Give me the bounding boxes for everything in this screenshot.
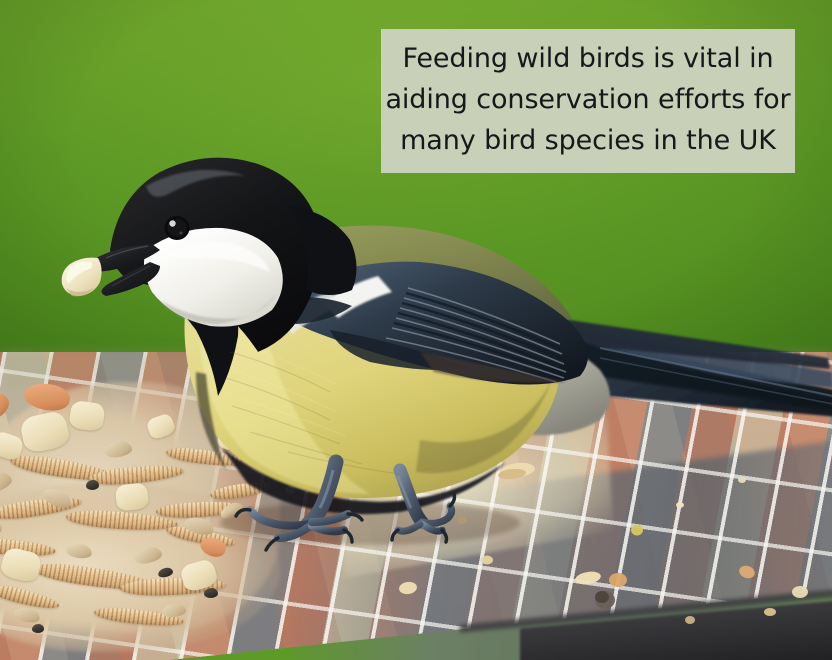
caption-line-1: Feeding wild birds is vital in [402,38,773,79]
photo-scene: Feeding wild birds is vital in aiding co… [0,0,832,660]
food-in-beak [62,258,102,297]
caption-line-2: aiding conservation efforts for [385,79,790,120]
caption-line-3: many bird species in the UK [400,120,776,161]
caption-box: Feeding wild birds is vital in aiding co… [381,29,795,173]
bird-eye [165,216,190,240]
